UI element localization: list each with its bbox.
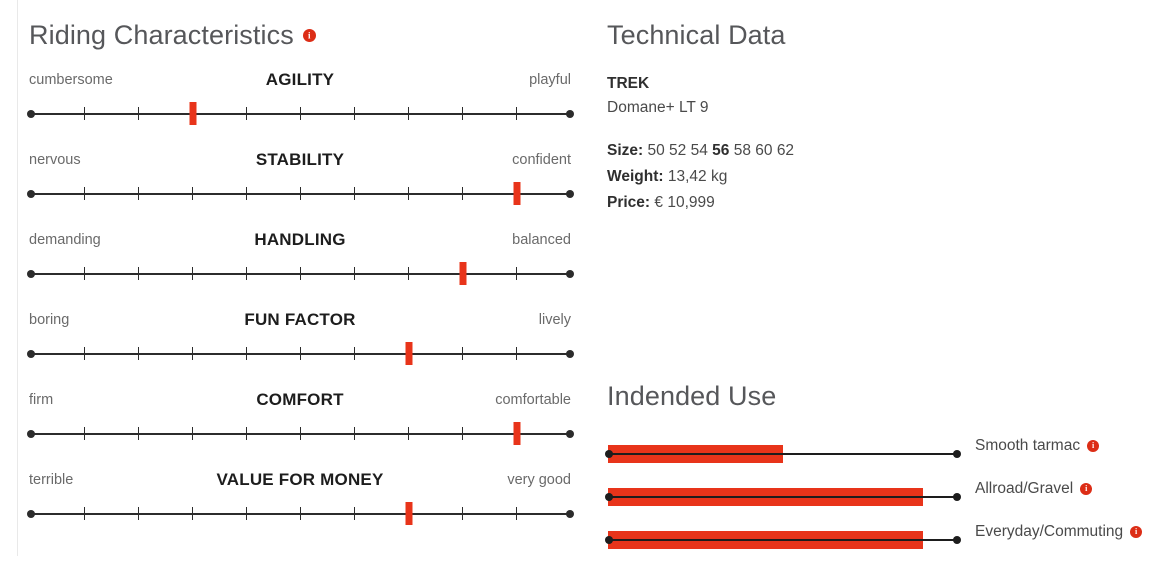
- rating-name: COMFORT: [256, 390, 343, 410]
- scale-tick: [192, 187, 193, 200]
- intended-use-label: Everyday/Commuting: [975, 523, 1142, 541]
- scale-tick: [84, 507, 85, 520]
- left-divider: [17, 0, 18, 556]
- scale-tick: [246, 347, 247, 360]
- scale-tick: [138, 427, 139, 440]
- intended-use-title: Indended Use: [607, 383, 1167, 410]
- scale-tick: [462, 507, 463, 520]
- scale-tick: [300, 107, 301, 120]
- scale-tick: [84, 107, 85, 120]
- riding-characteristics-title-text: Riding Characteristics: [29, 22, 294, 49]
- scale-tick: [246, 187, 247, 200]
- riding-characteristics-page: Riding Characteristics cumbersomeAGILITY…: [0, 0, 1170, 556]
- intended-use-label-text: Smooth tarmac: [975, 437, 1080, 455]
- rating-labels: terribleVALUE FOR MONEYvery good: [29, 472, 571, 494]
- scale-tick: [138, 347, 139, 360]
- rating-right-anchor: lively: [539, 312, 571, 328]
- riding-characteristics-title: Riding Characteristics: [29, 22, 316, 49]
- scale-tick: [138, 507, 139, 520]
- scale-end-dot: [566, 190, 574, 198]
- rating-row: nervousSTABILITYconfident: [29, 152, 574, 232]
- rating-scale[interactable]: [29, 340, 571, 368]
- intended-use-start-dot: [605, 450, 613, 458]
- scale-tick: [408, 107, 409, 120]
- info-icon[interactable]: [1087, 440, 1099, 452]
- bike-brand: TREK: [607, 72, 1147, 96]
- spec-list: Size: 50 52 54 56 58 60 62 Weight: 13,42…: [607, 138, 1147, 216]
- intended-use-track: [608, 488, 958, 506]
- rating-marker: [513, 182, 520, 205]
- scale-tick: [84, 427, 85, 440]
- rating-marker: [405, 342, 412, 365]
- spec-weight-value: 13,42 kg: [668, 168, 727, 185]
- rating-scale[interactable]: [29, 260, 571, 288]
- intended-use-end-dot: [953, 493, 961, 501]
- intended-use-track: [608, 445, 958, 463]
- scale-end-dot: [566, 270, 574, 278]
- rating-right-anchor: confident: [512, 152, 571, 168]
- intended-use-label: Smooth tarmac: [975, 437, 1099, 455]
- spec-price: Price: € 10,999: [607, 190, 1147, 216]
- intended-use-title-text: Indended Use: [607, 383, 776, 410]
- scale-tick: [246, 427, 247, 440]
- scale-start-dot: [27, 270, 35, 278]
- rating-rows: cumbersomeAGILITYplayfulnervousSTABILITY…: [29, 72, 574, 552]
- scale-tick: [192, 347, 193, 360]
- scale-tick: [84, 267, 85, 280]
- intended-use-axis: [608, 539, 958, 541]
- scale-start-dot: [27, 190, 35, 198]
- intended-use-row: Smooth tarmac: [607, 433, 1167, 476]
- scale-end-dot: [566, 430, 574, 438]
- scale-tick: [84, 187, 85, 200]
- bike-model: Domane+ LT 9: [607, 96, 1147, 120]
- intended-use-end-dot: [953, 450, 961, 458]
- rating-left-anchor: nervous: [29, 152, 81, 168]
- rating-left-anchor: cumbersome: [29, 72, 113, 88]
- scale-tick: [516, 267, 517, 280]
- scale-end-dot: [566, 350, 574, 358]
- scale-start-dot: [27, 510, 35, 518]
- scale-tick: [354, 347, 355, 360]
- scale-tick: [246, 107, 247, 120]
- intended-use-label-text: Everyday/Commuting: [975, 523, 1123, 541]
- intended-use-axis: [608, 453, 958, 455]
- technical-data-title: Technical Data: [607, 22, 786, 49]
- intended-use-end-dot: [953, 536, 961, 544]
- scale-tick: [300, 187, 301, 200]
- scale-tick: [192, 427, 193, 440]
- scale-tick: [354, 427, 355, 440]
- rating-marker: [405, 502, 412, 525]
- intended-use-label: Allroad/Gravel: [975, 480, 1092, 498]
- scale-tick: [246, 267, 247, 280]
- rating-labels: cumbersomeAGILITYplayful: [29, 72, 571, 94]
- rating-row: boringFUN FACTORlively: [29, 312, 574, 392]
- spec-size-selected: 56: [712, 142, 729, 159]
- scale-tick: [408, 187, 409, 200]
- scale-tick: [516, 507, 517, 520]
- intended-use-start-dot: [605, 493, 613, 501]
- rating-left-anchor: terrible: [29, 472, 73, 488]
- scale-start-dot: [27, 110, 35, 118]
- rating-labels: nervousSTABILITYconfident: [29, 152, 571, 174]
- technical-data-block: TREK Domane+ LT 9 Size: 50 52 54 56 58 6…: [607, 72, 1147, 216]
- info-icon[interactable]: [1130, 526, 1142, 538]
- scale-tick: [354, 107, 355, 120]
- scale-tick: [462, 427, 463, 440]
- rating-labels: firmCOMFORTcomfortable: [29, 392, 571, 414]
- rating-scale[interactable]: [29, 180, 571, 208]
- scale-tick: [300, 507, 301, 520]
- scale-tick: [138, 107, 139, 120]
- scale-tick: [462, 187, 463, 200]
- rating-name: HANDLING: [254, 230, 345, 250]
- scale-tick: [138, 187, 139, 200]
- intended-use-track: [608, 531, 958, 549]
- rating-left-anchor: boring: [29, 312, 69, 328]
- scale-tick: [354, 187, 355, 200]
- intended-use-row: Allroad/Gravel: [607, 476, 1167, 519]
- intended-use-section: Indended Use Smooth tarmacAllroad/Gravel…: [607, 383, 1167, 410]
- scale-tick: [462, 347, 463, 360]
- rating-row: terribleVALUE FOR MONEYvery good: [29, 472, 574, 552]
- spec-size-values-after: 58 60 62: [734, 142, 794, 159]
- rating-name: STABILITY: [256, 150, 344, 170]
- intended-use-start-dot: [605, 536, 613, 544]
- scale-tick: [246, 507, 247, 520]
- intended-use-axis: [608, 496, 958, 498]
- rating-right-anchor: comfortable: [495, 392, 571, 408]
- info-icon[interactable]: [303, 29, 316, 42]
- spec-price-value: € 10,999: [654, 194, 714, 211]
- scale-tick: [516, 347, 517, 360]
- rating-scale[interactable]: [29, 420, 571, 448]
- rating-row: demandingHANDLINGbalanced: [29, 232, 574, 312]
- rating-right-anchor: playful: [529, 72, 571, 88]
- scale-start-dot: [27, 350, 35, 358]
- rating-row: firmCOMFORTcomfortable: [29, 392, 574, 472]
- rating-row: cumbersomeAGILITYplayful: [29, 72, 574, 152]
- scale-tick: [408, 427, 409, 440]
- rating-marker: [513, 422, 520, 445]
- intended-use-label-text: Allroad/Gravel: [975, 480, 1073, 498]
- spec-weight: Weight: 13,42 kg: [607, 164, 1147, 190]
- scale-tick: [192, 507, 193, 520]
- rating-marker: [189, 102, 196, 125]
- scale-tick: [300, 427, 301, 440]
- rating-left-anchor: firm: [29, 392, 53, 408]
- rating-name: FUN FACTOR: [244, 310, 355, 330]
- rating-name: AGILITY: [266, 70, 334, 90]
- scale-end-dot: [566, 110, 574, 118]
- scale-tick: [462, 107, 463, 120]
- spec-size-label: Size:: [607, 142, 643, 159]
- scale-tick: [354, 267, 355, 280]
- spec-size: Size: 50 52 54 56 58 60 62: [607, 138, 1147, 164]
- scale-tick: [354, 507, 355, 520]
- rating-scale[interactable]: [29, 500, 571, 528]
- rating-labels: boringFUN FACTORlively: [29, 312, 571, 334]
- rating-marker: [459, 262, 466, 285]
- spec-size-values-before: 50 52 54: [648, 142, 708, 159]
- scale-end-dot: [566, 510, 574, 518]
- spec-price-label: Price:: [607, 194, 650, 211]
- rating-left-anchor: demanding: [29, 232, 101, 248]
- rating-scale[interactable]: [29, 100, 571, 128]
- scale-tick: [138, 267, 139, 280]
- scale-tick: [408, 267, 409, 280]
- technical-data-title-text: Technical Data: [607, 22, 786, 49]
- scale-tick: [192, 267, 193, 280]
- scale-tick: [300, 347, 301, 360]
- rating-labels: demandingHANDLINGbalanced: [29, 232, 571, 254]
- rating-name: VALUE FOR MONEY: [216, 470, 383, 490]
- spec-weight-label: Weight:: [607, 168, 664, 185]
- scale-tick: [300, 267, 301, 280]
- intended-use-rows: Smooth tarmacAllroad/GravelEveryday/Comm…: [607, 433, 1167, 562]
- scale-tick: [84, 347, 85, 360]
- info-icon[interactable]: [1080, 483, 1092, 495]
- rating-right-anchor: very good: [507, 472, 571, 488]
- rating-right-anchor: balanced: [512, 232, 571, 248]
- scale-start-dot: [27, 430, 35, 438]
- scale-tick: [516, 107, 517, 120]
